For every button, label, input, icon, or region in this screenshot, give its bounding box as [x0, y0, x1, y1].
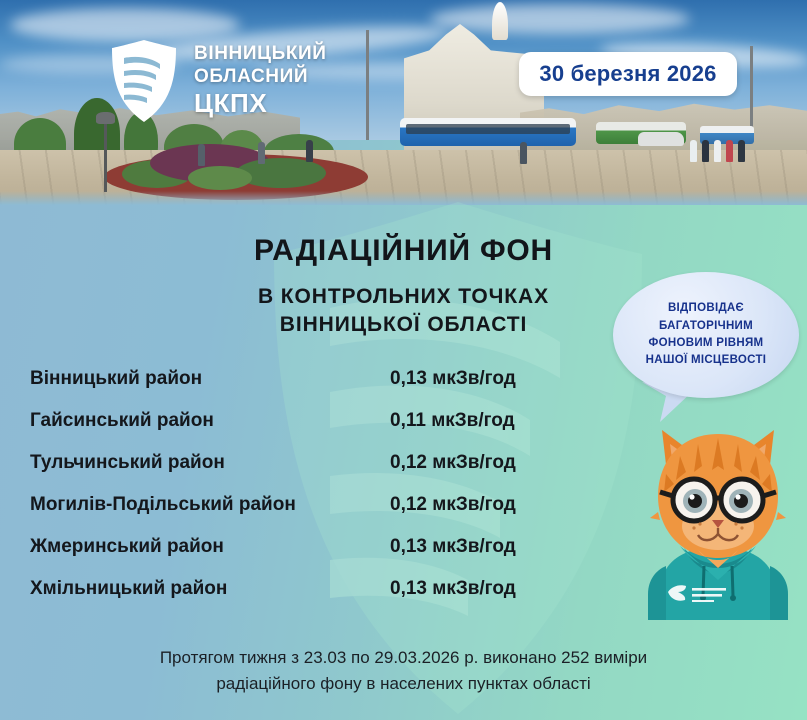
table-row: Гайсинський район 0,11 мкЗв/год — [30, 410, 550, 452]
district-name: Жмеринський район — [30, 536, 390, 558]
pedestrian — [726, 140, 733, 162]
cat-mascot-icon — [632, 408, 804, 620]
district-value: 0,12 мкЗв/год — [390, 452, 550, 474]
measurements-list: Вінницький район 0,13 мкЗв/год Гайсинськ… — [30, 368, 550, 620]
district-name: Хмільницький район — [30, 578, 390, 600]
table-row: Хмільницький район 0,13 мкЗв/год — [30, 578, 550, 620]
date-badge-text: 30 березня 2026 — [539, 61, 716, 87]
utility-pole — [366, 30, 369, 140]
district-value: 0,12 мкЗв/год — [390, 494, 550, 516]
table-row: Жмеринський район 0,13 мкЗв/год — [30, 536, 550, 578]
street-lamp-post — [104, 120, 107, 192]
pedestrian — [198, 144, 205, 166]
pedestrian — [306, 140, 313, 162]
org-line-2: ОБЛАСНИЙ — [194, 66, 327, 88]
speech-bubble-text: ВІДПОВІДАЄ БАГАТОРІЧНИМ ФОНОВИМ РІВНЯМ Н… — [646, 300, 767, 370]
shield-logo-icon — [108, 38, 180, 124]
cloud — [10, 8, 240, 42]
pedestrian — [258, 142, 265, 164]
banner-fade — [0, 191, 807, 205]
utility-pole — [750, 46, 753, 138]
infographic-poster: ВІННИЦЬКИЙ ОБЛАСНИЙ ЦКПХ 30 березня 2026… — [0, 0, 807, 720]
district-value: 0,11 мкЗв/год — [390, 410, 550, 432]
shrub — [188, 166, 252, 190]
trolleybus-windows — [406, 124, 570, 134]
footer-line-1: Протягом тижня з 23.03 по 29.03.2026 р. … — [0, 645, 807, 671]
district-name: Гайсинський район — [30, 410, 390, 432]
car — [638, 132, 684, 146]
district-value: 0,13 мкЗв/год — [390, 536, 550, 558]
org-line-1: ВІННИЦЬКИЙ — [194, 43, 327, 65]
table-row: Тульчинський район 0,12 мкЗв/год — [30, 452, 550, 494]
pedestrian — [520, 142, 527, 164]
district-name: Могилів-Подільський район — [30, 494, 390, 516]
district-name: Вінницький район — [30, 368, 390, 390]
organization-logo: ВІННИЦЬКИЙ ОБЛАСНИЙ ЦКПХ — [108, 38, 327, 124]
pedestrian — [690, 140, 697, 162]
footer-note: Протягом тижня з 23.03 по 29.03.2026 р. … — [0, 645, 807, 697]
page-title: РАДІАЦІЙНИЙ ФОН — [0, 234, 807, 268]
table-row: Могилів-Подільський район 0,12 мкЗв/год — [30, 494, 550, 536]
district-name: Тульчинський район — [30, 452, 390, 474]
pedestrian — [714, 140, 721, 162]
pedestrian — [738, 140, 745, 162]
footer-line-2: радіаційного фону в населених пунктах об… — [0, 671, 807, 697]
date-badge: 30 березня 2026 — [519, 52, 737, 96]
org-line-3: ЦКПХ — [194, 88, 327, 119]
pedestrian — [702, 140, 709, 162]
organization-name: ВІННИЦЬКИЙ ОБЛАСНИЙ ЦКПХ — [194, 43, 327, 118]
district-value: 0,13 мкЗв/год — [390, 578, 550, 600]
building-tower — [492, 2, 508, 40]
table-row: Вінницький район 0,13 мкЗв/год — [30, 368, 550, 410]
speech-bubble: ВІДПОВІДАЄ БАГАТОРІЧНИМ ФОНОВИМ РІВНЯМ Н… — [613, 272, 799, 398]
cloud — [430, 4, 690, 34]
district-value: 0,13 мкЗв/год — [390, 368, 550, 390]
